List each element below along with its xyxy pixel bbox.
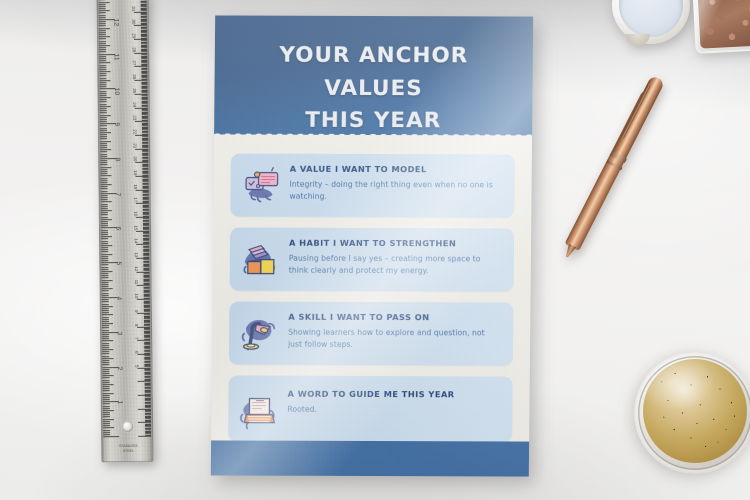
ruler-cm-label: 12 [134, 266, 139, 271]
ceramic-bowl [612, 0, 690, 44]
ruler-inch-label: 8 [114, 157, 121, 161]
ruler-inch-label: 1 [116, 401, 123, 405]
card-heading: A HABIT I WANT TO STRENGTHEN [289, 239, 502, 250]
poster: YOUR ANCHOR VALUES THIS YEAR [211, 15, 533, 476]
ruler-inch-label: 4 [115, 297, 122, 301]
ruler-inch-label: 9 [113, 123, 120, 127]
glass-jar-of-chocolate-flakes [692, 0, 750, 54]
ruler-cm-label: 13 [134, 252, 139, 257]
list-item: A HABIT I WANT TO STRENGTHEN Pausing bef… [230, 228, 515, 292]
ruler-cm-label: 20 [133, 157, 138, 162]
ruler-cm-label: 25 [132, 88, 137, 93]
ruler-brand-text: STAINLESS STEEL [118, 444, 138, 454]
ruler-hanging-hole [122, 421, 133, 432]
ruler-cm-label: 18 [133, 184, 138, 189]
list-item: A SKILL I WANT TO PASS ON Showing learne… [229, 302, 514, 366]
ruler-inch-label: 7 [114, 192, 121, 196]
file-box-icon [239, 238, 283, 282]
ruler-cm-label: 17 [133, 198, 138, 203]
message-cards-icon [239, 164, 283, 208]
card-text: A HABIT I WANT TO STRENGTHEN Pausing bef… [289, 237, 502, 277]
ruler-cm-label: 24 [132, 102, 137, 107]
ruler-cm-label: 27 [132, 61, 137, 66]
ruler-cm-label: 30 [131, 20, 136, 25]
desk-scene: 1234567891011125678910111213141516171819… [0, 0, 750, 500]
poster-card-list: A VALUE I WANT TO MODEL Integrity – doin… [211, 137, 532, 442]
ruler-cm-label: 21 [133, 143, 138, 148]
laptop-icon [237, 389, 281, 433]
ruler-cm-label: 29 [131, 33, 136, 38]
card-text: A WORD TO GUIDE ME THIS YEAR Rooted. [287, 388, 500, 416]
ruler-cm-label: 28 [132, 47, 137, 52]
list-item: A WORD TO GUIDE ME THIS YEAR Rooted. [228, 375, 513, 442]
poster-header: YOUR ANCHOR VALUES THIS YEAR [214, 15, 533, 138]
ruler-cm-label: 6 [135, 351, 140, 354]
card-body: Integrity – doing the right thing even w… [289, 179, 502, 202]
jar-highlight [692, 0, 750, 54]
ruler-tick-marks: 1234567891011125678910111213141516171819… [97, 0, 154, 462]
ruler-cm-label: 31 [131, 6, 136, 11]
card-heading: A VALUE I WANT TO MODEL [290, 165, 503, 176]
ruler-inch-label: 12 [112, 18, 119, 26]
poster-page: YOUR ANCHOR VALUES THIS YEAR [211, 15, 533, 476]
ruler-cm-label: 8 [135, 323, 140, 326]
ruler-cm-label: 14 [134, 239, 139, 244]
card-heading: A WORD TO GUIDE ME THIS YEAR [288, 390, 501, 401]
ruler-cm-label: 19 [133, 170, 138, 175]
ruler-cm-label: 10 [134, 293, 139, 298]
list-item: A VALUE I WANT TO MODEL Integrity – doin… [230, 154, 515, 218]
ruler-cm-label: 22 [132, 129, 137, 134]
card-body: Rooted. [287, 404, 500, 416]
card-text: A SKILL I WANT TO PASS ON Showing learne… [288, 311, 501, 351]
page-title: YOUR ANCHOR VALUES THIS YEAR [214, 39, 533, 138]
ruler-cm-label: 7 [135, 337, 140, 340]
ruler-inch-label: 5 [115, 262, 122, 266]
ruler-cm-label: 5 [135, 364, 140, 367]
ruler-inch-label: 10 [113, 88, 120, 96]
steel-ruler: 1234567891011125678910111213141516171819… [97, 0, 154, 462]
ruler-inch-label: 11 [113, 53, 120, 60]
ruler-cm-label: 23 [132, 115, 137, 120]
card-body: Pausing before I say yes – creating more… [289, 253, 502, 276]
ruler-inch-label: 3 [116, 331, 123, 335]
glass-rim [634, 352, 750, 474]
title-line-1: YOUR ANCHOR VALUES [279, 43, 468, 101]
desk-lamp-icon [238, 312, 282, 356]
card-heading: A SKILL I WANT TO PASS ON [288, 313, 501, 324]
card-text: A VALUE I WANT TO MODEL Integrity – doin… [289, 163, 502, 203]
ruler-inch-label: 2 [116, 366, 123, 370]
ruler-cm-label: 16 [133, 211, 138, 216]
ruler-cm-label: 11 [134, 280, 139, 285]
ruler-cm-label: 15 [133, 225, 138, 230]
ruler-cm-label: 9 [134, 310, 139, 313]
ruler-cm-label: 26 [132, 74, 137, 79]
ruler-inch-label: 6 [114, 227, 121, 231]
espresso-glass [634, 352, 750, 474]
poster-footer-band [211, 440, 529, 476]
card-body: Showing learners how to explore and ques… [288, 327, 501, 350]
